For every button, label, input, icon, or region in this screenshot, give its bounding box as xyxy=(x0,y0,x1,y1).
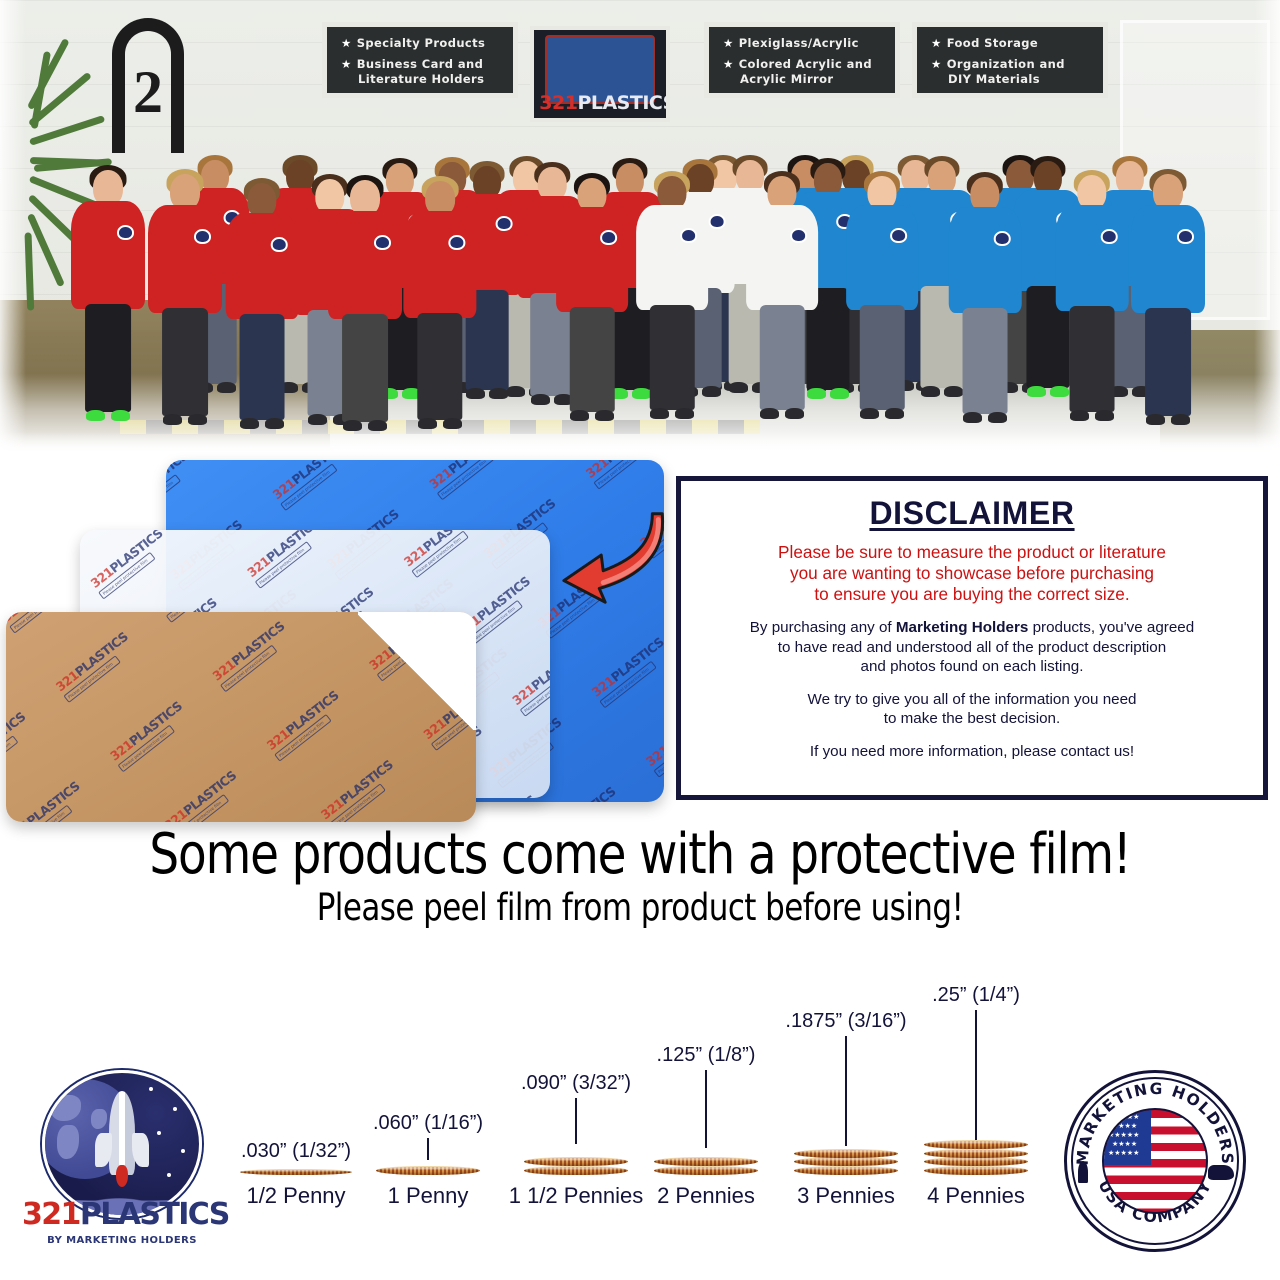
shoe-left xyxy=(86,410,105,421)
legs xyxy=(760,305,805,410)
shoe-left xyxy=(760,408,779,419)
shoe-left xyxy=(343,420,362,431)
disclaimer-agreement-line-1: By purchasing any of Marketing Holders p… xyxy=(750,618,1194,638)
sign-1-line-2: ★Business Card and xyxy=(341,57,499,72)
shoe-right xyxy=(1171,414,1190,425)
disclaimer-agreement: By purchasing any of Marketing Holders p… xyxy=(750,618,1194,677)
page-subtitle: Please peel film from product before usi… xyxy=(45,886,1235,929)
sign-3-line-2: ★Organization and xyxy=(931,57,1089,72)
leader-line xyxy=(575,1098,577,1144)
shirt-logo-badge xyxy=(449,235,466,250)
shirt-logo-badge xyxy=(994,231,1011,246)
disclaimer-warning-line-2: you are wanting to showcase before purch… xyxy=(778,563,1166,584)
shoe-left xyxy=(1070,410,1089,421)
employee-figure xyxy=(940,175,1030,436)
shoe-right xyxy=(368,420,387,431)
leader-line xyxy=(705,1070,707,1148)
tshirt xyxy=(746,205,818,310)
employee-figure xyxy=(547,176,637,434)
shoe-left xyxy=(1146,414,1165,425)
penny-stack: 3 Pennies xyxy=(794,1145,898,1175)
shoe-left xyxy=(418,418,437,429)
penny-coin xyxy=(794,1157,898,1166)
thickness-value-label: .060” (1/16”) xyxy=(373,1112,483,1135)
thickness-value-label: .090” (3/32”) xyxy=(521,1072,631,1095)
penny-coin xyxy=(524,1166,628,1175)
disclaimer-info-line-2: to make the best decision. xyxy=(808,709,1137,729)
leader-line xyxy=(427,1138,429,1160)
shirt-logo-badge xyxy=(601,230,618,245)
tshirt xyxy=(636,205,708,310)
team-photo: 2 ★Specialty Products ★Business Card and… xyxy=(0,0,1280,452)
legs xyxy=(240,314,285,420)
thickness-category-label: 1/2 Penny xyxy=(246,1183,345,1209)
shoe-right xyxy=(785,408,804,419)
tshirt xyxy=(1056,205,1129,311)
disclaimer-box: DISCLAIMER Please be sure to measure the… xyxy=(676,476,1268,800)
page-title: Some products come with a protective fil… xyxy=(45,822,1235,887)
tshirt xyxy=(1131,205,1205,313)
shoe-left xyxy=(163,414,182,425)
penny-coin xyxy=(794,1149,898,1158)
employee-figure xyxy=(320,178,410,444)
penny-coin xyxy=(376,1166,480,1175)
storefront-logo-text: 321PLASTICS xyxy=(539,92,660,114)
tshirt xyxy=(846,205,918,310)
shoe-left xyxy=(963,412,982,423)
employee-figure xyxy=(1123,172,1213,438)
rocket-flame-icon xyxy=(116,1165,128,1187)
storefront-logo-sign: 321PLASTICS xyxy=(530,26,670,122)
disclaimer-warning-line-1: Please be sure to measure the product or… xyxy=(778,542,1166,563)
employee-figure xyxy=(217,181,307,442)
sign-3-line-3: DIY Materials xyxy=(931,72,1089,87)
sign-2-line-2: ★Colored Acrylic and xyxy=(723,57,881,72)
legs xyxy=(650,305,695,410)
penny-stack: 1/2 Penny xyxy=(240,1163,352,1175)
storefront-sign-1: ★Specialty Products ★Business Card and L… xyxy=(322,22,518,98)
thickness-category-label: 4 Pennies xyxy=(927,1183,1025,1209)
logo-321-wordmark: 321PLASTICS xyxy=(22,1197,222,1232)
flag-canton: ★★★★★ ★★★★ ★★★★★ ★★★★ ★★★★★ xyxy=(1104,1110,1151,1165)
shirt-logo-badge xyxy=(117,225,134,240)
legs xyxy=(85,304,131,412)
shoe-right xyxy=(675,408,694,419)
tan-film-sheet: 321PLASTICSPlease peel protective film32… xyxy=(6,612,476,822)
sign-1-line-3: Literature Holders xyxy=(341,72,499,87)
seal-rocket-icon xyxy=(1078,1161,1088,1183)
leader-line xyxy=(975,1010,977,1142)
legs xyxy=(1070,306,1115,412)
shoe-left xyxy=(860,408,879,419)
legs xyxy=(342,314,388,422)
sign-1-line-1: ★Specialty Products xyxy=(341,36,499,51)
employee-figure xyxy=(627,174,717,432)
thickness-category-label: 1 Penny xyxy=(388,1183,469,1209)
employee-figure xyxy=(737,174,827,432)
disclaimer-warning: Please be sure to measure the product or… xyxy=(778,542,1166,605)
storefront-sign-3: ★Food Storage ★Organization and DIY Mate… xyxy=(912,22,1108,98)
legs xyxy=(570,307,615,412)
tshirt xyxy=(949,207,1022,313)
usa-flag-icon: ★★★★★ ★★★★ ★★★★★ ★★★★ ★★★★★ xyxy=(1102,1108,1208,1214)
shirt-logo-badge xyxy=(681,228,698,243)
legs xyxy=(963,308,1008,414)
thickness-value-label: .25” (1/4”) xyxy=(932,984,1020,1007)
sign-2-line-1: ★Plexiglass/Acrylic xyxy=(723,36,881,51)
legs xyxy=(860,305,905,410)
shoe-left xyxy=(240,418,259,429)
tshirt xyxy=(148,205,222,313)
shirt-logo-badge xyxy=(891,228,908,243)
tshirt xyxy=(403,211,476,318)
disclaimer-warning-line-3: to ensure you are buying the correct siz… xyxy=(778,584,1166,605)
legs xyxy=(1145,308,1191,416)
rocket-icon xyxy=(109,1091,135,1175)
legs xyxy=(162,308,208,416)
logo-321-plastics: 321PLASTICS BY MARKETING HOLDERS xyxy=(22,1068,222,1254)
disclaimer-agreement-line-3: and photos found on each listing. xyxy=(750,657,1194,677)
thickness-value-label: .125” (1/8”) xyxy=(657,1044,756,1067)
penny-stack: 2 Pennies xyxy=(654,1154,758,1175)
usa-outline-icon xyxy=(1208,1165,1234,1180)
peel-arrow-icon xyxy=(556,498,674,616)
shoe-left xyxy=(650,408,669,419)
shirt-logo-badge xyxy=(1177,229,1194,244)
storefront-sign-2: ★Plexiglass/Acrylic ★Colored Acrylic and… xyxy=(704,22,900,98)
employee-figure xyxy=(837,174,927,432)
penny-coin xyxy=(654,1166,758,1175)
penny-stack: 1 1/2 Pennies xyxy=(524,1154,628,1175)
shirt-logo-badge xyxy=(374,235,391,250)
penny-coin xyxy=(924,1166,1028,1175)
marketing-infographic-page: 2 ★Specialty Products ★Business Card and… xyxy=(0,0,1280,1280)
shoe-right xyxy=(489,388,508,399)
legs xyxy=(417,313,462,420)
thickness-category-label: 2 Pennies xyxy=(657,1183,755,1209)
shoe-right xyxy=(443,418,462,429)
sign-2-line-3: Acrylic Mirror xyxy=(723,72,881,87)
penny-coin xyxy=(654,1157,758,1166)
disclaimer-contact: If you need more information, please con… xyxy=(810,742,1134,762)
shirt-logo-badge xyxy=(1101,229,1118,244)
shoe-right xyxy=(885,408,904,419)
disclaimer-info-line-1: We try to give you all of the informatio… xyxy=(808,690,1137,710)
shoe-right xyxy=(111,410,130,421)
tshirt xyxy=(226,213,299,319)
logo-321-tagline: BY MARKETING HOLDERS xyxy=(22,1235,222,1246)
disclaimer-title: DISCLAIMER xyxy=(869,495,1074,532)
shoe-right xyxy=(1095,410,1114,421)
tshirt xyxy=(71,201,145,309)
penny-coin xyxy=(794,1166,898,1175)
peeled-corner xyxy=(358,612,476,730)
building-number: 2 xyxy=(112,18,184,153)
penny-coin xyxy=(924,1149,1028,1158)
thickness-category-label: 1 1/2 Pennies xyxy=(509,1183,644,1209)
penny-coin xyxy=(240,1169,352,1175)
shoe-right xyxy=(265,418,284,429)
thickness-value-label: .1875” (3/16”) xyxy=(785,1010,906,1033)
marketing-holders-seal: MARKETING HOLDERS USA COMPANY ★★★★★ ★★★★… xyxy=(1064,1070,1246,1252)
shirt-logo-badge xyxy=(194,229,211,244)
space-scene-icon xyxy=(42,1070,202,1218)
shoe-left xyxy=(570,410,589,421)
disclaimer-info: We try to give you all of the informatio… xyxy=(808,690,1137,729)
disclaimer-agreement-line-2: to have read and understood all of the p… xyxy=(750,638,1194,658)
shirt-logo-badge xyxy=(791,228,808,243)
shoe-right xyxy=(188,414,207,425)
tshirt xyxy=(556,207,628,312)
thickness-value-label: .030” (1/32”) xyxy=(241,1140,351,1163)
sign-3-line-1: ★Food Storage xyxy=(931,36,1089,51)
thickness-category-label: 3 Pennies xyxy=(797,1183,895,1209)
penny-stack: 1 Penny xyxy=(376,1163,480,1175)
shoe-right xyxy=(988,412,1007,423)
leader-line xyxy=(845,1036,847,1146)
shoe-right xyxy=(595,410,614,421)
tshirt xyxy=(328,211,402,319)
penny-stack: 4 Pennies xyxy=(924,1136,1028,1175)
penny-coin xyxy=(924,1140,1028,1149)
penny-coin xyxy=(524,1157,628,1166)
penny-coin xyxy=(924,1157,1028,1166)
shirt-logo-badge xyxy=(271,237,288,252)
